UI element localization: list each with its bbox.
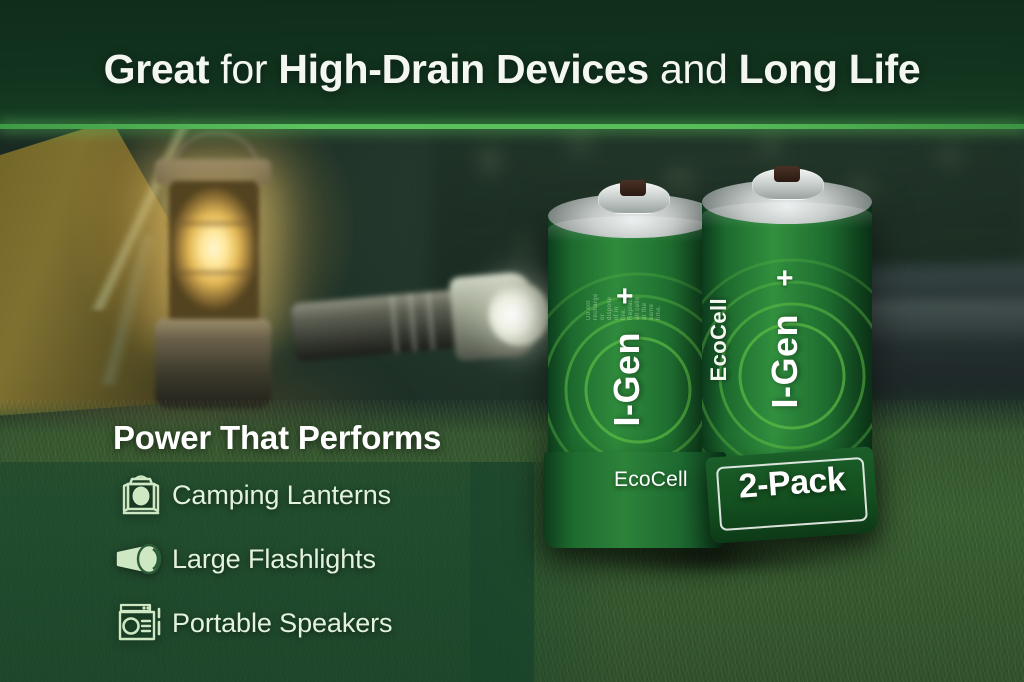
headline-part-1: Great	[104, 46, 210, 92]
lantern-cage	[167, 179, 261, 323]
feature-item-large-flashlights: Large Flashlights	[110, 537, 530, 581]
feature-label: Large Flashlights	[172, 544, 376, 575]
battery-positive-mark-left: +	[616, 282, 634, 312]
feature-item-camping-lanterns: Camping Lanterns	[110, 473, 530, 517]
headline: Great for High-Drain Devices and Long Li…	[0, 46, 1024, 93]
battery-front-brand: EcoCell	[614, 468, 688, 492]
feature-list: Camping Lanterns Large Flashlights	[110, 473, 530, 665]
headline-part-3: High-Drain Devices	[278, 46, 649, 92]
feature-label: Portable Speakers	[172, 608, 392, 639]
battery-terminal-nub-left	[620, 180, 646, 196]
headline-part-4: and	[649, 46, 739, 92]
battery-lower-band	[544, 452, 726, 548]
feature-item-portable-speakers: Portable Speakers	[110, 601, 530, 645]
battery-brand-left: I-Gen	[606, 332, 648, 427]
camp-lantern-photo	[133, 133, 293, 423]
battery-terminal-nub-right	[774, 166, 800, 182]
battery-positive-mark-right: +	[776, 264, 794, 294]
feature-label: Camping Lanterns	[172, 480, 391, 511]
speaker-icon	[110, 601, 172, 645]
flashlight-grip-rings	[382, 290, 457, 354]
battery-brand-right: I-Gen	[764, 314, 806, 409]
battery-side-brand: EcoCell	[706, 298, 732, 382]
product-batteries: Do not recharge or dispose of in fire. R…	[520, 180, 920, 580]
battery-microtext-left: Do not recharge or dispose of in fire. R…	[586, 294, 696, 320]
section-subtitle: Power That Performs	[113, 419, 441, 457]
headline-part-5: Long Life	[739, 46, 921, 92]
accent-divider-line	[0, 124, 1024, 129]
lantern-base	[155, 319, 271, 409]
flashlight-icon	[110, 537, 172, 581]
headline-part-2: for	[209, 46, 278, 92]
advertisement-banner: Great for High-Drain Devices and Long Li…	[0, 0, 1024, 682]
lantern-icon	[110, 473, 172, 517]
